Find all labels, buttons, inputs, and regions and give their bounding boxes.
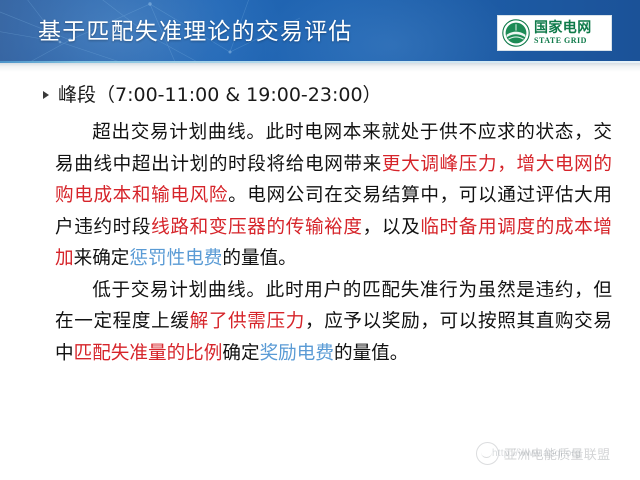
- triangle-right-bullet-icon: [43, 91, 49, 99]
- watermark-badge: 亚洲电能质量联盟: [476, 442, 610, 465]
- text-run-none-4: ，以及: [363, 217, 421, 238]
- circle-logo-icon: [476, 442, 499, 465]
- logo-name-en: STATE GRID: [534, 37, 592, 45]
- text-run-red-1: 解了供需压力: [190, 311, 305, 332]
- slide-canvas: 基于匹配失准理论的交易评估 国家电网 STATE GRID 峰段（7:00: [0, 0, 640, 480]
- logo-name-cn: 国家电网: [534, 21, 592, 35]
- text-run-none-6: 来确定: [74, 248, 130, 269]
- text-run-blue-7: 惩罚性电费: [129, 248, 222, 269]
- state-grid-logo-text: 国家电网 STATE GRID: [534, 21, 592, 45]
- state-grid-emblem-icon: [501, 18, 531, 48]
- slide-body: 峰段（7:00-11:00 & 19:00-23:00） 超出交易计划曲线。此时…: [0, 80, 640, 369]
- state-grid-logo: 国家电网 STATE GRID: [497, 15, 612, 51]
- watermark-label: 亚洲电能质量联盟: [504, 444, 610, 463]
- paragraph-under-plan: 低于交易计划曲线。此时用户的匹配失准行为虽然是违约，但在一定程度上缓解了供需压力…: [0, 275, 640, 370]
- bullet-heading-label: 峰段（7:00-11:00 & 19:00-23:00）: [58, 84, 382, 106]
- text-run-none-4: 确定: [222, 343, 259, 364]
- text-run-red-3: 匹配失准量的比例: [74, 343, 223, 364]
- slide-header: 基于匹配失准理论的交易评估 国家电网 STATE GRID: [0, 0, 640, 62]
- bullet-heading-peak-period: 峰段（7:00-11:00 & 19:00-23:00）: [0, 80, 640, 111]
- paragraph-over-plan: 超出交易计划曲线。此时电网本来就处于供不应求的状态，交易曲线中超出计划的时段将给…: [0, 117, 640, 275]
- text-run-none-6: 的量值。: [334, 343, 408, 364]
- page-title: 基于匹配失准理论的交易评估: [38, 17, 353, 47]
- text-run-red-3: 线路和变压器的传输裕度: [151, 217, 363, 238]
- text-run-blue-5: 奖励电费: [260, 343, 334, 364]
- text-run-none-8: 的量值。: [222, 248, 296, 269]
- header-shadow: [0, 63, 640, 72]
